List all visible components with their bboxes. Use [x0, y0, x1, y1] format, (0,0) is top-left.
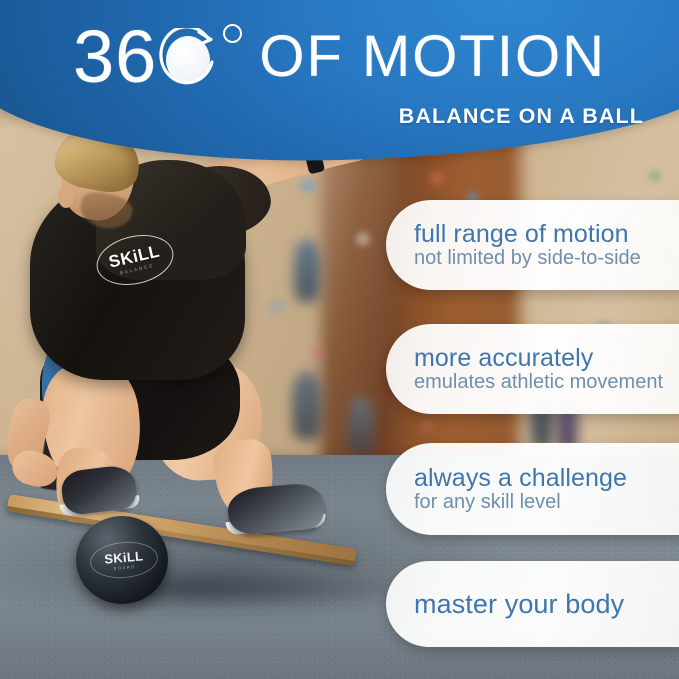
feature-title: more accurately: [414, 345, 679, 372]
feature-subtitle: for any skill level: [414, 491, 679, 513]
climbing-hold: [430, 172, 445, 185]
degree-circle-icon: [221, 20, 245, 94]
feature-title: master your body: [414, 590, 679, 619]
climbing-hold: [420, 420, 434, 432]
ball-logo-subtext: BOARD: [113, 564, 136, 571]
ball-logo-text: SKiLL: [104, 549, 144, 565]
feature-title: full range of motion: [414, 221, 679, 248]
climbing-hold: [648, 170, 662, 182]
feature-card[interactable]: full range of motion not limited by side…: [386, 200, 679, 290]
feature-subtitle: not limited by side-to-side: [414, 247, 679, 269]
circular-arrow-icon: [159, 28, 217, 90]
rotating-circle-icon: [157, 20, 219, 94]
degree-circle: [223, 24, 242, 43]
feature-title: always a challenge: [414, 465, 679, 492]
headline-number: 36: [73, 20, 157, 94]
feature-card[interactable]: more accurately emulates athletic moveme…: [386, 324, 679, 414]
feature-card[interactable]: master your body: [386, 561, 679, 647]
ball-logo-badge: SKiLL BOARD: [89, 539, 160, 581]
balance-ball: SKiLL BOARD: [76, 516, 168, 604]
subheadline: BALANCE ON A BALL: [0, 104, 644, 129]
feature-subtitle: emulates athletic movement: [414, 371, 679, 393]
feature-card[interactable]: always a challenge for any skill level: [386, 443, 679, 535]
product-poster: SKiLL BALANCE SKiLL BOARD: [0, 0, 679, 679]
headline-text: OF MOTION: [259, 28, 606, 86]
ear: [58, 186, 74, 208]
headline: 36 OF MOTION: [0, 18, 679, 96]
